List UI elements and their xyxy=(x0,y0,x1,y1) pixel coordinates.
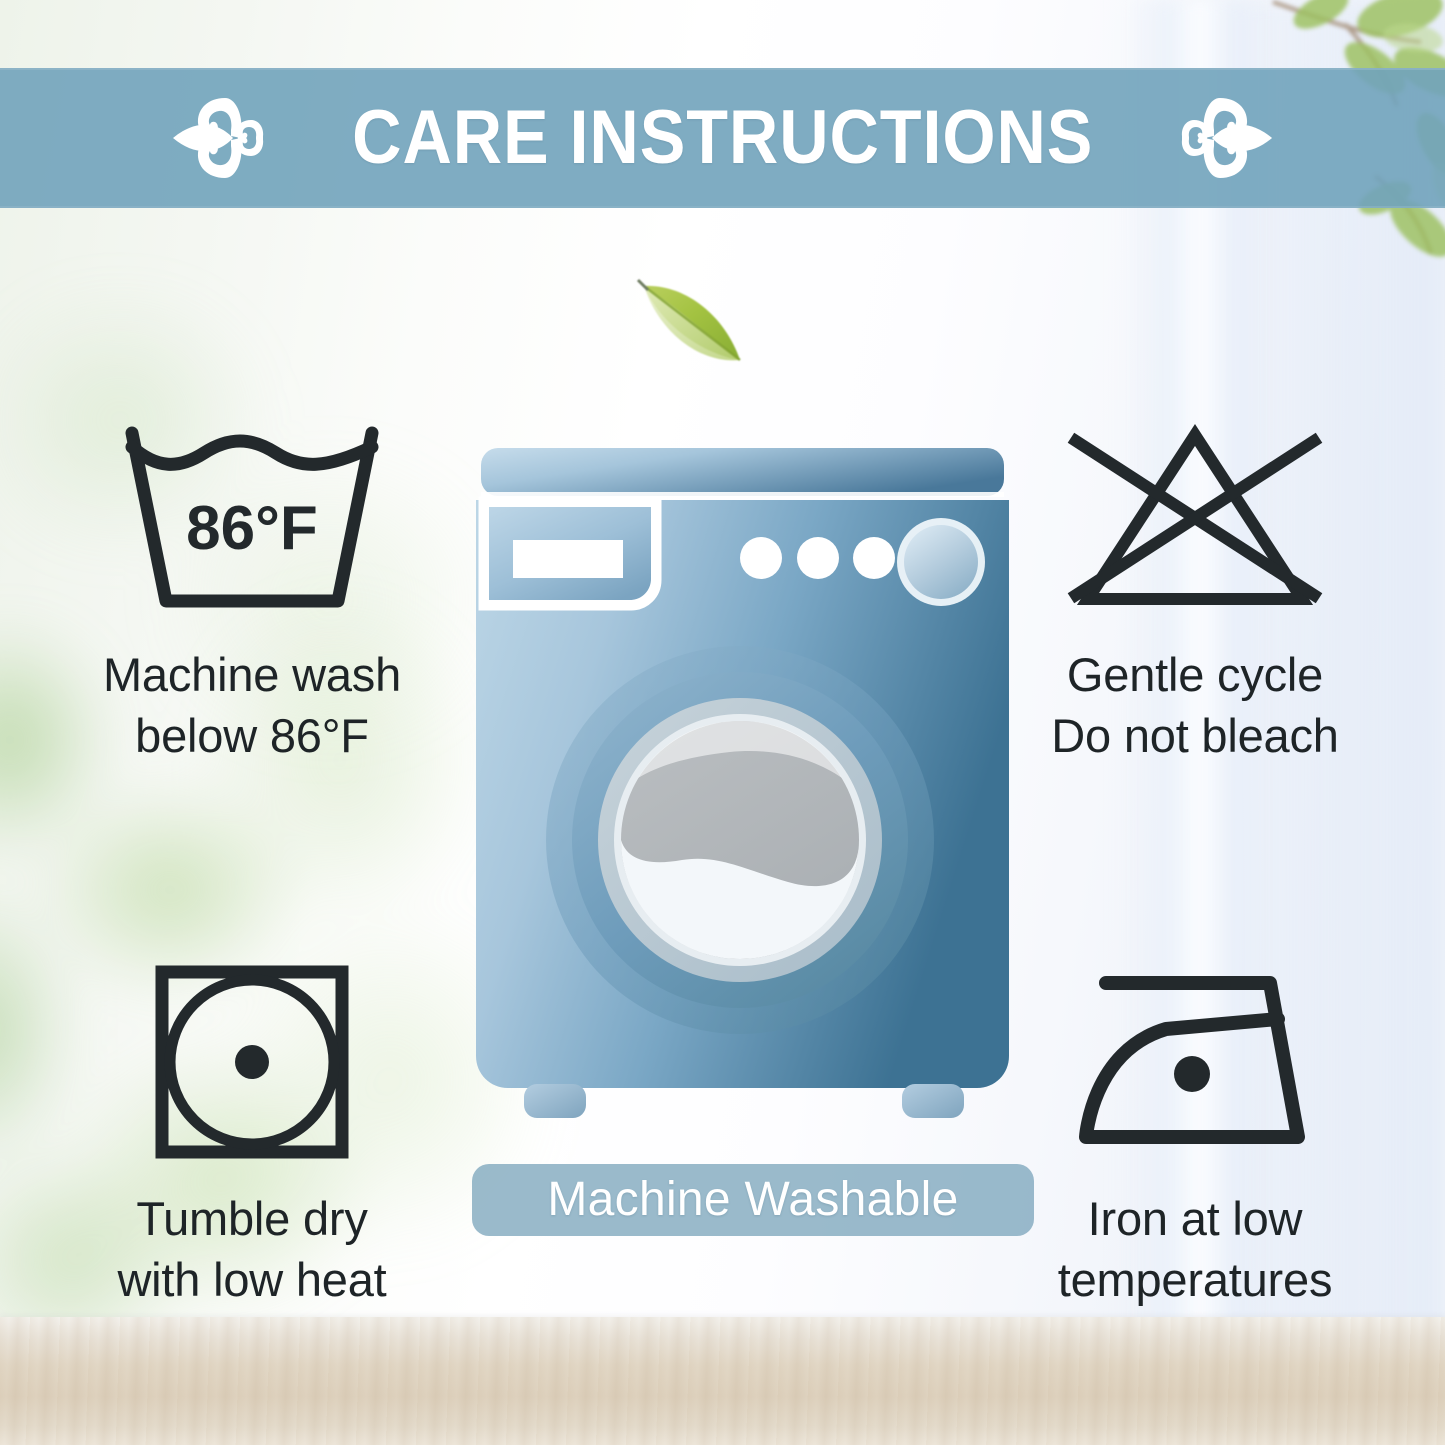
badge-label: Machine Washable xyxy=(547,1176,958,1224)
care-instructions-graphic: CARE INSTRUCTIONS xyxy=(0,0,1445,1445)
wash-temperature-value: 86°F xyxy=(186,494,318,563)
care-symbol-tumble-dry: Tumble dry with low heat xyxy=(42,962,462,1310)
care-symbol-caption: Iron at low temperatures xyxy=(1058,1188,1333,1310)
fleur-de-lis-left-icon xyxy=(167,90,271,186)
iron-icon xyxy=(1070,962,1320,1162)
wash-tub-icon: 86°F xyxy=(121,418,383,618)
care-symbol-caption: Gentle cycle Do not bleach xyxy=(1051,644,1338,766)
washing-machine-illustration xyxy=(470,440,1015,1140)
tumble-dry-icon xyxy=(152,962,352,1162)
care-symbol-caption: Tumble dry with low heat xyxy=(117,1188,386,1310)
page-title: CARE INSTRUCTIONS xyxy=(352,100,1093,176)
crossed-triangle-icon xyxy=(1064,418,1326,618)
care-symbol-caption: Machine wash below 86°F xyxy=(103,644,401,766)
care-symbol-do-not-bleach: Gentle cycle Do not bleach xyxy=(985,418,1405,766)
care-symbol-machine-wash: 86°F Machine wash below 86°F xyxy=(42,418,462,766)
fleur-de-lis-right-icon xyxy=(1174,90,1278,186)
header-banner: CARE INSTRUCTIONS xyxy=(0,68,1445,208)
wood-tabletop xyxy=(0,1317,1445,1445)
floating-leaf-icon xyxy=(632,268,762,378)
machine-washable-badge: Machine Washable xyxy=(472,1164,1034,1236)
care-symbol-iron: Iron at low temperatures xyxy=(985,962,1405,1310)
